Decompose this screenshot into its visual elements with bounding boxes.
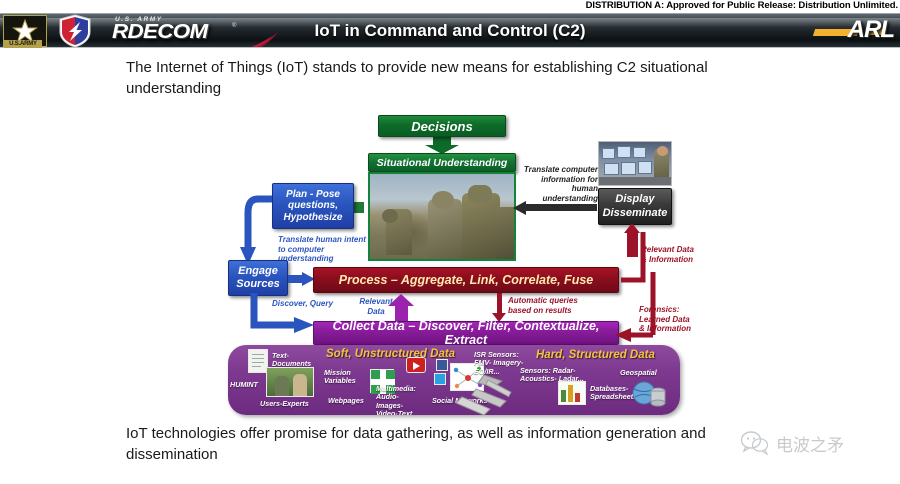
lead-paragraph: The Internet of Things (IoT) stands to p… [126, 58, 766, 99]
node-decisions[interactable]: Decisions [378, 115, 506, 137]
annotation-forensics: Forensics: Learned Data & Information [639, 305, 697, 334]
thumb-facebook-icon [436, 359, 448, 371]
rdecom-registered-mark: ® [232, 23, 236, 29]
c2-iot-diagram: Decisions Situational Understanding Plan… [0, 105, 900, 425]
node-process[interactable]: Process – Aggregate, Link, Correlate, Fu… [313, 267, 619, 293]
arrow-process-to-collect-shaft [497, 293, 502, 315]
data-sources-panel: Soft, Unstructured Data Hard, Structured… [228, 345, 680, 415]
annotation-discover-query: Discover, Query [272, 299, 333, 309]
distribution-statement: DISTRIBUTION A: Approved for Public Rele… [586, 0, 898, 11]
node-situational-understanding[interactable]: Situational Understanding [368, 153, 516, 172]
label-geospatial: Geospatial [620, 369, 657, 377]
wechat-icon [740, 430, 770, 456]
label-multimedia: Multimedia: Audio-Images- Video-Text [376, 385, 424, 415]
label-mission-variables: Mission Variables [324, 369, 364, 386]
label-webpages: Webpages [328, 397, 364, 405]
annotation-translate-human: Translate human intent to computer under… [278, 235, 370, 264]
thumb-video-icon [406, 357, 426, 373]
photo-operations-center [598, 141, 672, 186]
node-collect-data[interactable]: Collect Data – Discover, Filter, Context… [313, 321, 619, 345]
arl-wordmark: ARL [848, 16, 894, 44]
rdecom-shield-icon [58, 14, 92, 48]
thumb-text-document [248, 349, 268, 373]
rdecom-wordmark: RDECOM [112, 21, 208, 44]
us-army-logo-caption: U.S.ARMY [4, 40, 42, 48]
thumb-geospatial-globe [630, 379, 668, 409]
thumb-users-experts-photo [266, 367, 314, 397]
distribution-strip: DISTRIBUTION A: Approved for Public Rele… [0, 0, 900, 13]
arrow-display-to-su-shaft [525, 204, 597, 211]
annotation-automatic-queries: Automatic queries based on results [508, 296, 594, 315]
annotation-translate-computer: Translate computer information for human… [518, 165, 598, 203]
watermark: 电波之矛 [740, 430, 844, 456]
node-engage-sources[interactable]: Engage Sources [228, 260, 288, 296]
photo-soldiers-observing [368, 172, 516, 261]
label-users-experts: Users-Experts [260, 400, 309, 408]
bottom-paragraph: IoT technologies offer promise for data … [126, 424, 786, 465]
watermark-text: 电波之矛 [776, 431, 844, 456]
annotation-relevant-data-information: Relevant Data & Information [641, 245, 697, 264]
thumb-databases-spreadsheets [558, 381, 586, 405]
annotation-relevant-data: Relevant Data [356, 297, 396, 316]
hard-data-title: Hard, Structured Data [536, 349, 655, 361]
label-humint: HUMINT [230, 381, 258, 389]
